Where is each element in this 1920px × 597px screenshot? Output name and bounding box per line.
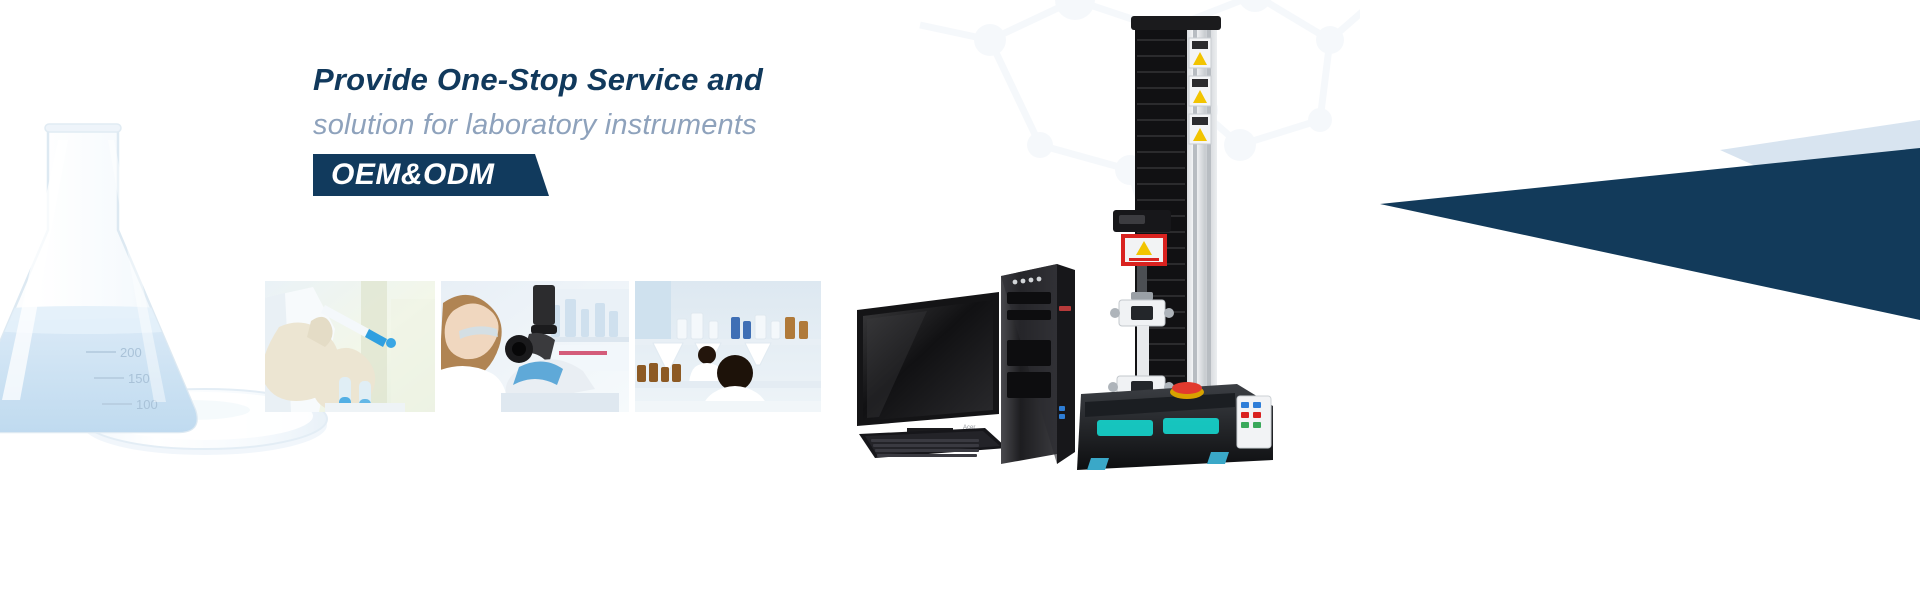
photo-microscope [441, 281, 629, 412]
desktop-monitor: Acer [857, 292, 999, 450]
photo-pipetting [265, 281, 435, 412]
universal-testing-machine [1077, 16, 1273, 470]
headline-line-2: solution for laboratory instruments [313, 102, 933, 148]
arrow-light-icon [1720, 120, 1920, 240]
svg-text:200: 200 [120, 345, 142, 360]
equipment-illustration: Acer [845, 10, 1295, 470]
hero-banner: 200 150 100 Provide One-Stop Service and… [0, 0, 1920, 597]
oem-odm-badge: OEM&ODM [313, 154, 549, 196]
headline-block: Provide One-Stop Service and solution fo… [313, 58, 933, 196]
list-item [441, 281, 629, 412]
headline-line-1: Provide One-Stop Service and [313, 58, 933, 102]
photo-lab-bench [635, 281, 821, 412]
svg-text:150: 150 [128, 371, 150, 386]
list-item [635, 281, 821, 412]
arrow-graphics [1380, 120, 1920, 450]
arrow-dark-icon [1380, 148, 1920, 320]
badge-label: OEM&ODM [331, 158, 495, 192]
computer-tower [1001, 264, 1075, 464]
photo-strip [265, 281, 821, 412]
keyboard [859, 428, 1007, 458]
list-item [265, 281, 435, 412]
